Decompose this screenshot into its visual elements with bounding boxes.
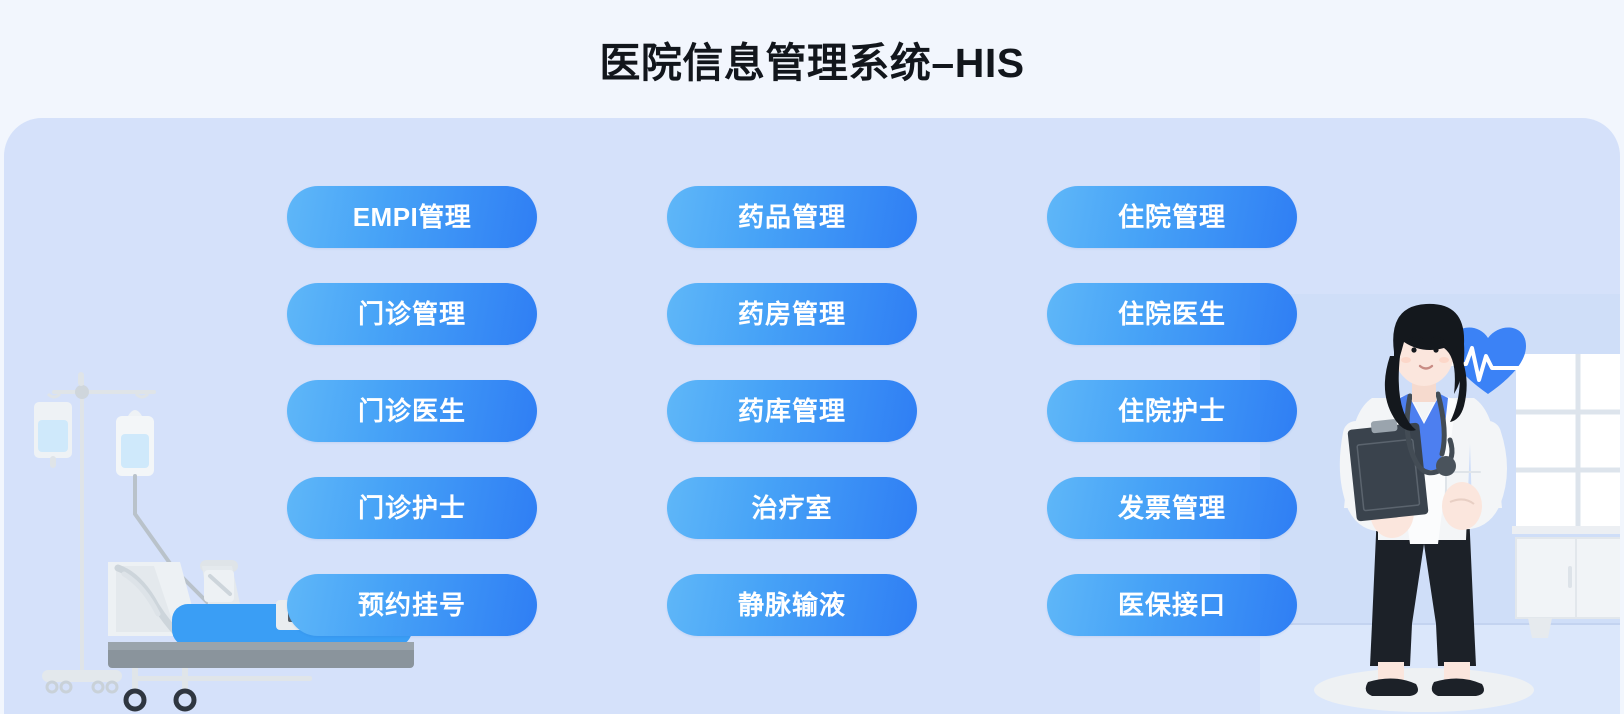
clipboard-icon <box>1347 419 1428 522</box>
menu-button-drug-management[interactable]: 药品管理 <box>667 186 917 248</box>
iv-bag-icon <box>34 394 72 468</box>
page-title: 医院信息管理系统–HIS <box>599 29 1024 89</box>
menu-button-invoice-management[interactable]: 发票管理 <box>1047 477 1297 539</box>
menu-button-inpatient-doctor[interactable]: 住院医生 <box>1047 283 1297 345</box>
doctor-illustration <box>1260 294 1620 714</box>
menu-button-insurance-interface[interactable]: 医保接口 <box>1047 574 1297 636</box>
bed-wheel-icon <box>126 691 194 709</box>
main-panel: EMPI管理 药品管理 住院管理 门诊管理 药房管理 住院医生 门诊医生 药库管… <box>4 118 1620 714</box>
iv-stand-icon <box>42 372 156 692</box>
menu-button-inpatient-nurse[interactable]: 住院护士 <box>1047 380 1297 442</box>
cabinet-icon <box>1516 538 1620 638</box>
menu-button-outpatient-doctor[interactable]: 门诊医生 <box>287 380 537 442</box>
female-doctor-figure <box>1344 304 1502 696</box>
menu-button-treatment-room[interactable]: 治疗室 <box>667 477 917 539</box>
module-button-grid: EMPI管理 药品管理 住院管理 门诊管理 药房管理 住院医生 门诊医生 药库管… <box>287 186 1297 636</box>
page-header: 医院信息管理系统–HIS <box>0 0 1624 118</box>
menu-button-pharmacy-management[interactable]: 药房管理 <box>667 283 917 345</box>
stethoscope-icon <box>1407 394 1456 476</box>
menu-button-inpatient-management[interactable]: 住院管理 <box>1047 186 1297 248</box>
menu-button-empi-management[interactable]: EMPI管理 <box>287 186 537 248</box>
menu-button-intravenous-infusion[interactable]: 静脉输液 <box>667 574 917 636</box>
iv-bag-secondary-icon <box>116 394 209 604</box>
window-icon <box>1512 354 1620 534</box>
menu-button-drug-store-management[interactable]: 药库管理 <box>667 380 917 442</box>
menu-button-outpatient-management[interactable]: 门诊管理 <box>287 283 537 345</box>
heartbeat-heart-icon <box>1450 328 1526 394</box>
menu-button-outpatient-nurse[interactable]: 门诊护士 <box>287 477 537 539</box>
menu-button-appointment[interactable]: 预约挂号 <box>287 574 537 636</box>
